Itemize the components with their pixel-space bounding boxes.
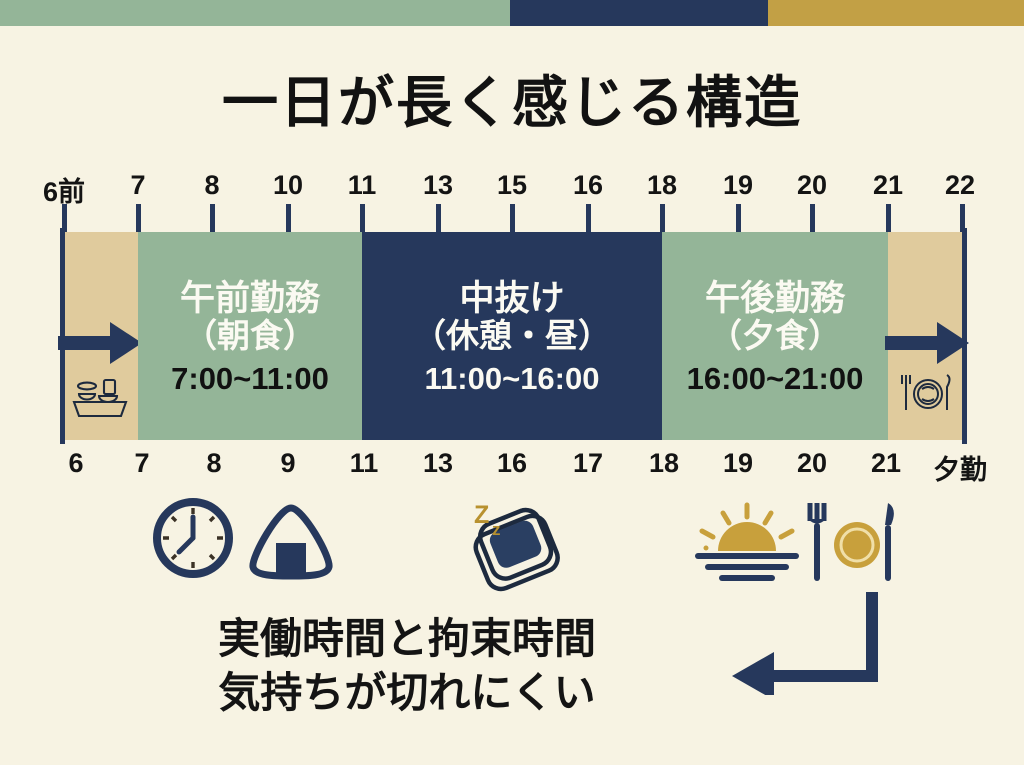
axis-top-tick: 8 [204, 170, 219, 201]
timeline-chart: 6前 7 8 10 11 13 15 16 18 19 20 21 22 [62, 170, 965, 490]
axis-top-tick: 20 [797, 170, 827, 201]
segment-subtitle: （休憩・昼） [413, 318, 611, 355]
axis-top-tick: 19 [723, 170, 753, 201]
axis-top-tick: 10 [273, 170, 303, 201]
timeline-segment-afternoon-shift[interactable]: 午後勤務 （夕食） 16:00~21:00 [662, 232, 888, 440]
segment-title: 午後勤務 [705, 279, 845, 318]
axis-bottom-tick: 7 [134, 448, 149, 479]
axis-bottom-tick: 8 [206, 448, 221, 479]
segment-time-range: 7:00~11:00 [171, 361, 329, 397]
axis-top-tick: 15 [497, 170, 527, 201]
timeline-segment-morning-shift[interactable]: 午前勤務 （朝食） 7:00~11:00 [138, 232, 362, 440]
axis-tick-marks [62, 204, 965, 232]
segment-title: 午前勤務 [180, 279, 320, 318]
sleep-pillow-icon: Z z [462, 497, 574, 598]
svg-text:z: z [492, 520, 501, 539]
sunset-icon [692, 501, 802, 588]
axis-bottom-tick: 夕勤 [933, 448, 987, 487]
axis-top-tick: 13 [423, 170, 453, 201]
axis-bottom-tick: 9 [280, 448, 295, 479]
segment-time-range: 16:00~21:00 [687, 361, 864, 397]
clock-icon [150, 495, 236, 586]
axis-top-tick: 22 [945, 170, 975, 201]
axis-top-tick: 11 [348, 170, 377, 201]
annotation-line: 気持ちが切れにくい [0, 666, 1024, 720]
accent-segment-gold [768, 0, 1024, 26]
arrow-right-icon [58, 320, 142, 371]
axis-bottom-tick: 17 [573, 448, 603, 479]
timeline-segment-pre-shift[interactable] [62, 232, 138, 440]
bar-right-edge-rule [962, 228, 967, 444]
annotation-line: 実働時間と拘束時間 [0, 612, 1024, 666]
axis-bottom-tick: 16 [497, 448, 527, 479]
cutlery-plate-icon [800, 501, 904, 592]
axis-bottom-tick: 11 [350, 448, 379, 479]
axis-top-tick: 21 [873, 170, 903, 201]
timeline-segment-evening-shift[interactable] [888, 232, 965, 440]
segment-time-range: 11:00~16:00 [425, 361, 600, 397]
accent-segment-green [0, 0, 510, 26]
svg-text:Z: Z [474, 501, 489, 529]
axis-labels-bottom: 6 7 8 9 11 13 16 17 18 19 20 21 夕勤 [62, 448, 965, 482]
dinner-plate-icon [895, 372, 959, 419]
axis-bottom-tick: 6 [68, 448, 83, 479]
axis-top-tick: 7 [130, 170, 145, 201]
timeline-segment-mid-break[interactable]: 中抜け （休憩・昼） 11:00~16:00 [362, 232, 662, 440]
segment-subtitle: （朝食） [184, 318, 316, 355]
axis-top-tick: 16 [573, 170, 603, 201]
top-accent-bar [0, 0, 1024, 26]
accent-segment-navy [510, 0, 768, 26]
onigiri-icon [245, 503, 337, 586]
meal-tray-icon [69, 372, 131, 425]
page-title: 一日が長く感じる構造 [0, 58, 1024, 139]
bar-left-edge-rule [60, 228, 65, 444]
timeline-bar: 午前勤務 （朝食） 7:00~11:00 中抜け （休憩・昼） 11:00~16… [62, 232, 965, 440]
axis-labels-top: 6前 7 8 10 11 13 15 16 18 19 20 21 22 [62, 170, 965, 204]
axis-bottom-tick: 20 [797, 448, 827, 479]
axis-bottom-tick: 13 [423, 448, 453, 479]
axis-top-tick: 18 [647, 170, 677, 201]
segment-title: 中抜け [459, 279, 564, 318]
arrow-right-icon [885, 320, 969, 371]
segment-subtitle: （夕食） [709, 318, 841, 355]
axis-bottom-tick: 18 [649, 448, 679, 479]
axis-bottom-tick: 19 [723, 448, 753, 479]
annotation-text: 実働時間と拘束時間 気持ちが切れにくい [0, 612, 1024, 720]
axis-bottom-tick: 21 [871, 448, 901, 479]
